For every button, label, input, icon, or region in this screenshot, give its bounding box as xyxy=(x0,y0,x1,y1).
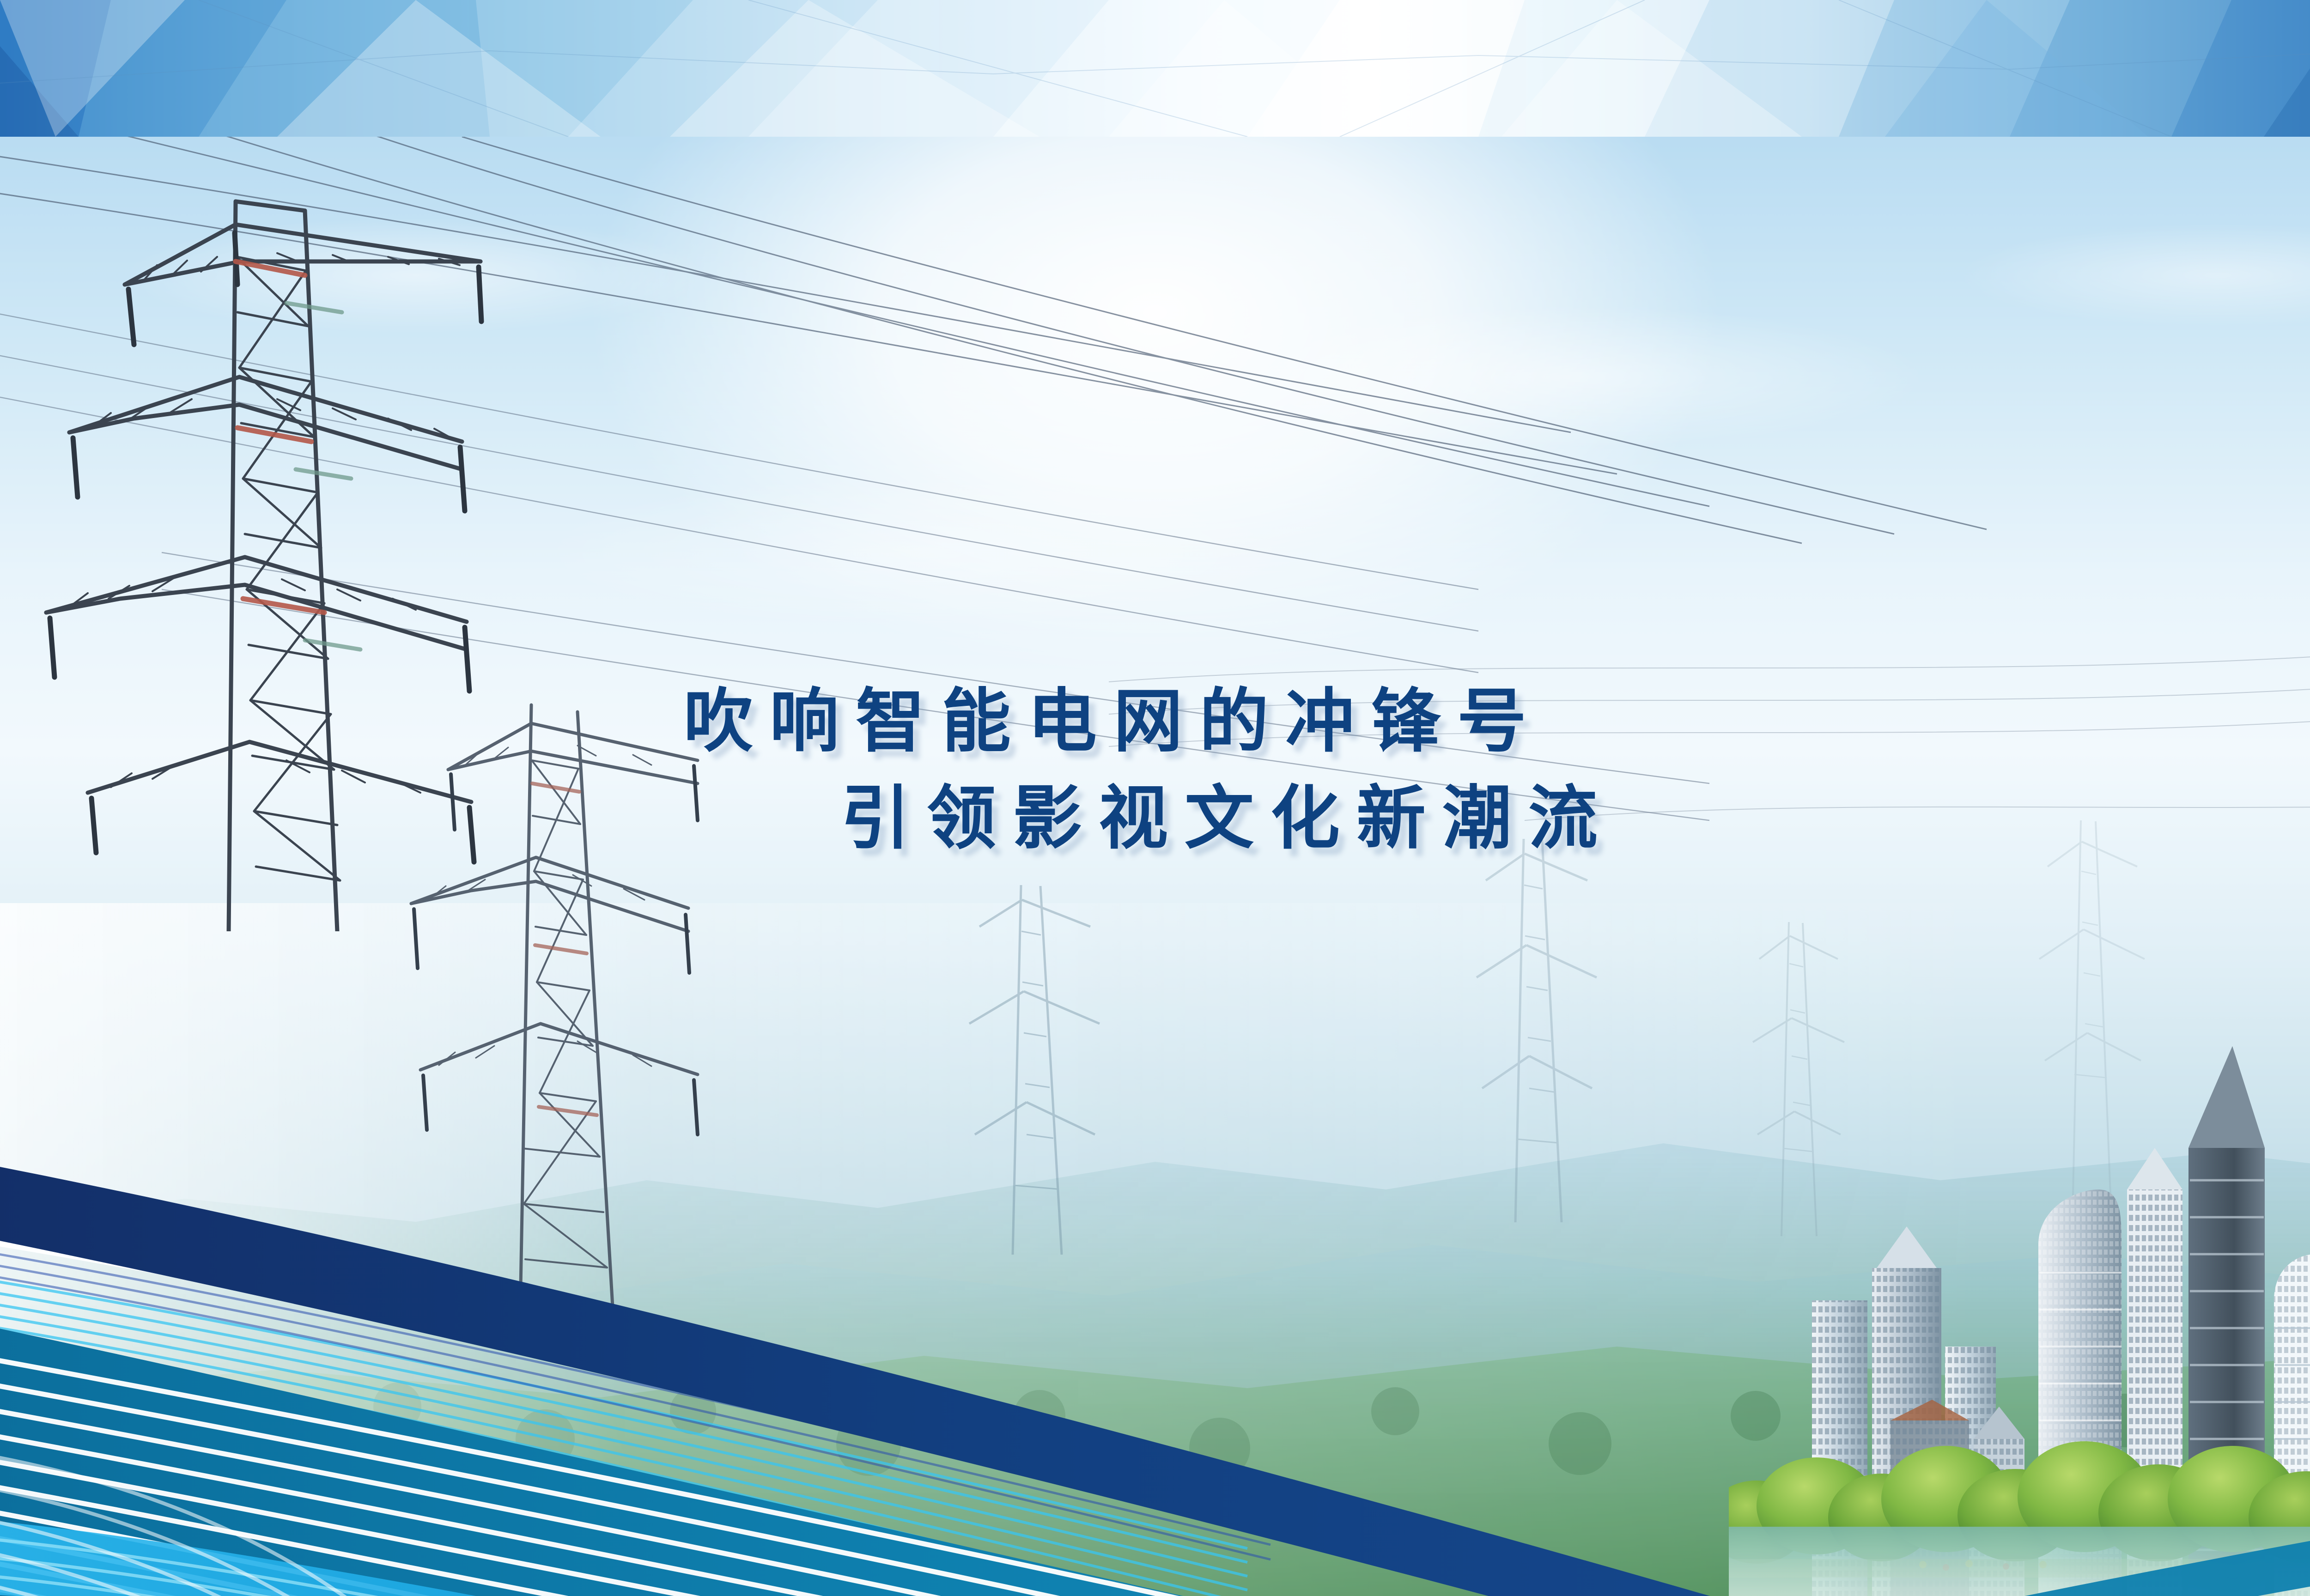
banner-canvas: 吹响智能电网的冲锋号 引领影视文化新潮流 xyxy=(0,0,2310,1596)
banner-title: 吹响智能电网的冲锋号 引领影视文化新潮流 xyxy=(684,686,2310,1010)
title-line-1: 吹响智能电网的冲锋号 xyxy=(684,686,2310,756)
polygon-pattern-icon xyxy=(0,0,2310,137)
title-line-2: 引领影视文化新潮流 xyxy=(841,783,2310,853)
photo-scene: 吹响智能电网的冲锋号 引领影视文化新潮流 xyxy=(0,137,2310,1596)
header-polygon-band xyxy=(0,0,2310,137)
river-water xyxy=(1729,1527,2310,1596)
